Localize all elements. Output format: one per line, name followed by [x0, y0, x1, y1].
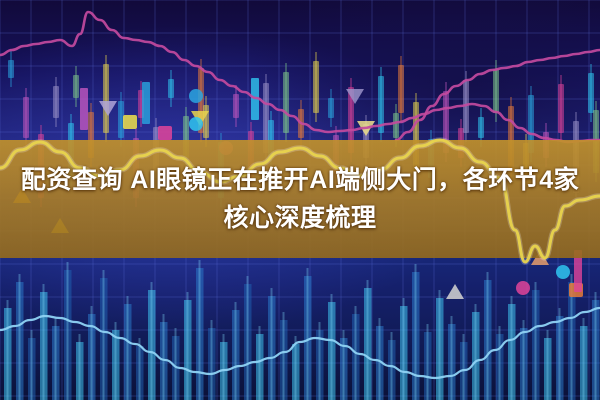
headline-text: 配资查询 AI眼镜正在推开AI端侧大门，各环节4家核心深度梳理	[0, 140, 600, 258]
headline-label: 配资查询 AI眼镜正在推开AI端侧大门，各环节4家核心深度梳理	[20, 161, 580, 237]
banner-image: 配资查询 AI眼镜正在推开AI端侧大门，各环节4家核心深度梳理	[0, 0, 600, 400]
